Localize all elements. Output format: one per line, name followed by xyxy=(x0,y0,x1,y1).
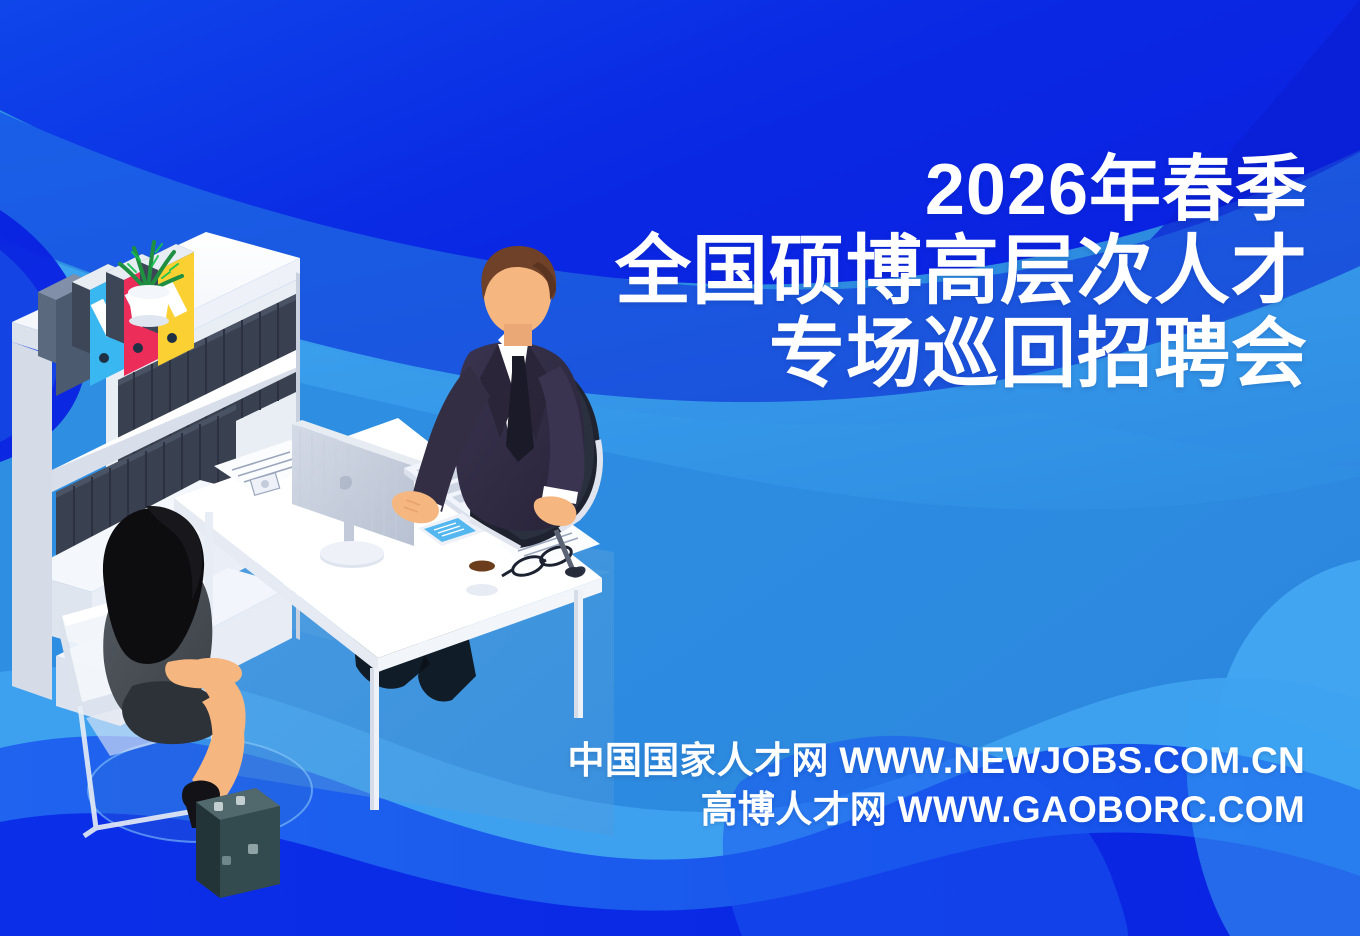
url-block: 中国国家人才网 WWW.NEWJOBS.COM.CN 高博人才网 WWW.GAO… xyxy=(568,736,1305,834)
headline-line-3: 专场巡回招聘会 xyxy=(615,313,1308,396)
url-line-gaoborc: 高博人才网 WWW.GAOBORC.COM xyxy=(568,785,1305,834)
headline-line-1: 2026年春季 xyxy=(615,150,1308,230)
headline-block: 2026年春季 全国硕博高层次人才 专场巡回招聘会 xyxy=(615,150,1308,396)
headline-line-2: 全国硕博高层次人才 xyxy=(615,230,1308,313)
url-line-newjobs: 中国国家人才网 WWW.NEWJOBS.COM.CN xyxy=(568,736,1305,785)
recruitment-poster: 2026年春季 全国硕博高层次人才 专场巡回招聘会 中国国家人才网 WWW.NE… xyxy=(0,0,1360,936)
